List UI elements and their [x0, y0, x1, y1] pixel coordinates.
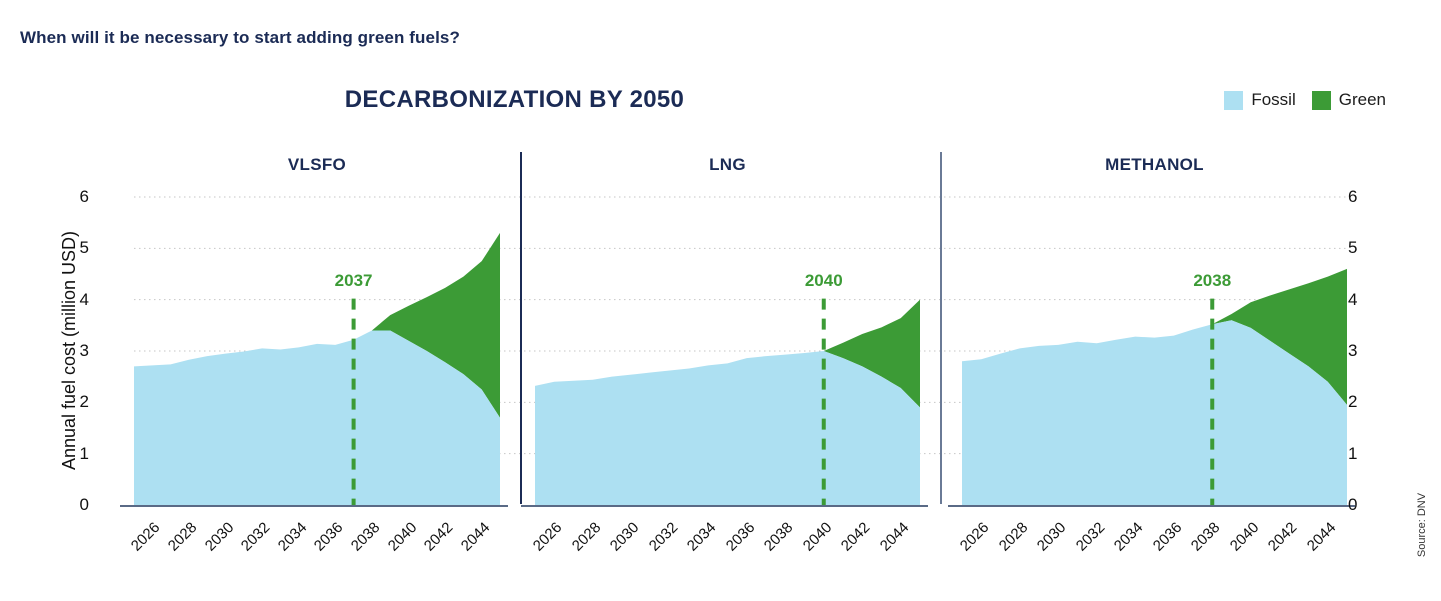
y-axis-tick-right: 5: [1348, 239, 1357, 256]
y-axis-tick-right: 6: [1348, 188, 1357, 205]
area-fossil: [535, 351, 920, 505]
panel-title-methanol: METHANOL: [962, 155, 1347, 175]
y-axis-tick-right: 3: [1348, 342, 1357, 359]
y-axis-tick-left: 1: [80, 445, 89, 462]
panel-title-vlsfo: VLSFO: [134, 155, 500, 175]
y-axis-tick-right: 4: [1348, 291, 1357, 308]
switch-year-label-methanol: 2038: [1193, 271, 1231, 291]
y-axis-tick-right: 0: [1348, 496, 1357, 513]
y-axis-tick-right: 2: [1348, 393, 1357, 410]
y-axis-tick-left: 2: [80, 393, 89, 410]
panel-title-lng: LNG: [535, 155, 920, 175]
y-axis-tick-left: 6: [80, 188, 89, 205]
switch-year-label-lng: 2040: [805, 271, 843, 291]
y-axis-tick-left: 3: [80, 342, 89, 359]
y-axis-tick-left: 0: [80, 496, 89, 513]
panel-divider-1: [520, 152, 522, 504]
panel-divider-2: [940, 152, 942, 504]
chart-canvas: [0, 0, 1441, 601]
y-axis-tick-left: 5: [80, 239, 89, 256]
y-axis-tick-right: 1: [1348, 445, 1357, 462]
switch-year-label-vlsfo: 2037: [335, 271, 373, 291]
y-axis-tick-left: 4: [80, 291, 89, 308]
